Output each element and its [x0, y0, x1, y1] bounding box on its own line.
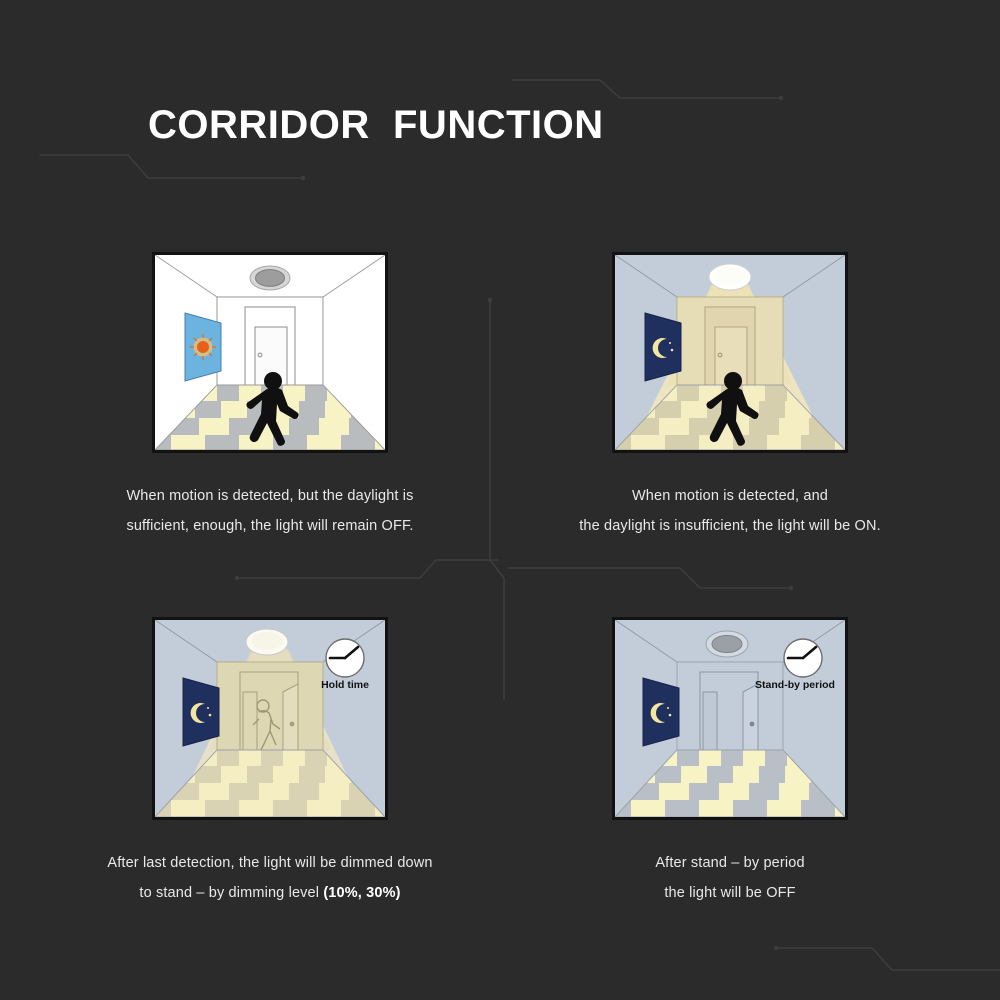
hold-time-label: Hold time [321, 679, 369, 691]
panel-2-illustration [612, 252, 848, 453]
caption-line: sufficient, enough, the light will remai… [60, 511, 480, 541]
panel-3-caption: After last detection, the light will be … [60, 848, 480, 908]
caption-line: the light will be OFF [520, 878, 940, 908]
panel-4-illustration: Stand-by period [612, 617, 848, 820]
window-night-moon [643, 678, 679, 746]
panel-3-illustration: Hold time [152, 617, 388, 820]
caption-line: the daylight is insufficient, the light … [520, 511, 940, 541]
panel-1: When motion is detected, but the dayligh… [60, 252, 480, 541]
page-title: CORRIDOR FUNCTION [148, 103, 604, 148]
ceiling-sensor-off [706, 631, 748, 657]
panel-4-caption: After stand – by period the light will b… [520, 848, 940, 908]
ceiling-lamp-dimmed [246, 629, 288, 655]
panel-1-caption: When motion is detected, but the dayligh… [60, 481, 480, 541]
corridor-function-infographic: CORRIDOR FUNCTION [0, 0, 1000, 1000]
ceiling-lamp-on [709, 264, 751, 290]
standby-period-label: Stand-by period [755, 679, 835, 691]
caption-line: After stand – by period [520, 848, 940, 878]
window-night-moon [183, 678, 219, 746]
ceiling-sensor-off [250, 266, 290, 290]
window-day-sun [185, 313, 221, 381]
panel-1-illustration [152, 252, 388, 453]
caption-text: to stand – by dimming level [139, 885, 323, 901]
window-night-moon [645, 313, 681, 381]
panel-2: When motion is detected, and the dayligh… [520, 252, 940, 541]
caption-line: When motion is detected, but the dayligh… [60, 481, 480, 511]
panel-3: Hold time After last detection, the ligh… [60, 617, 480, 908]
caption-line: to stand – by dimming level (10%, 30%) [60, 878, 480, 908]
caption-line: After last detection, the light will be … [60, 848, 480, 878]
panel-2-caption: When motion is detected, and the dayligh… [520, 481, 940, 541]
caption-line: When motion is detected, and [520, 481, 940, 511]
panel-4: Stand-by period After stand – by period … [520, 617, 940, 908]
dimming-level-value: (10%, 30%) [323, 885, 400, 901]
